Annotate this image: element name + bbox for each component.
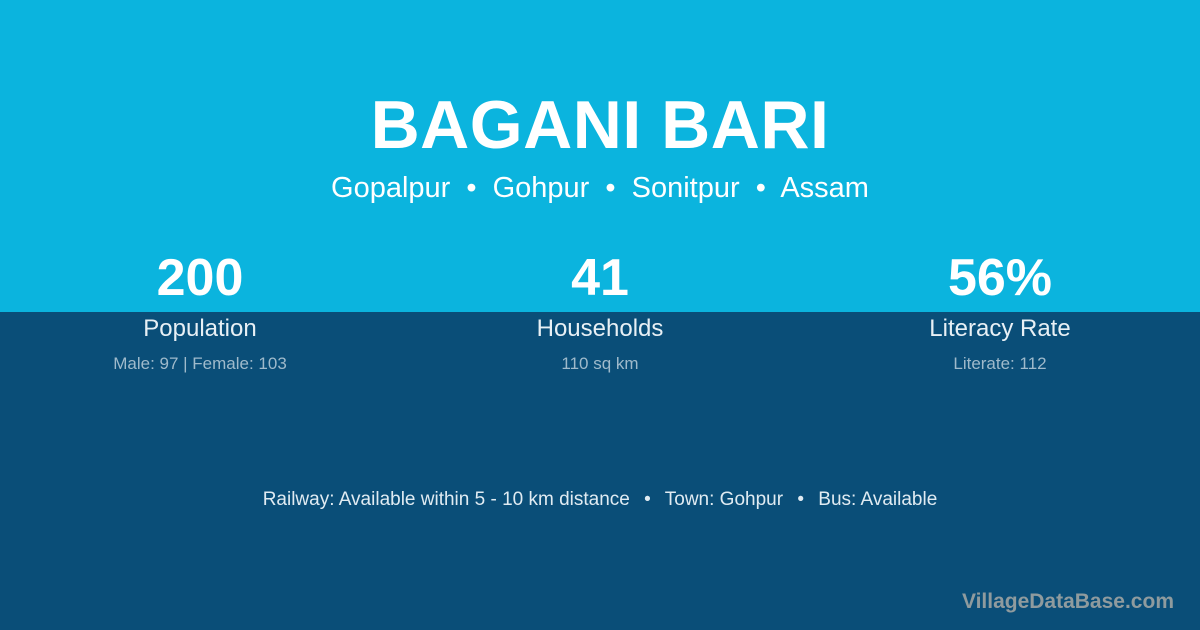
stats-row: 200 Population Male: 97 | Female: 103 41… [0, 244, 1200, 375]
breadcrumb-separator: • [597, 172, 623, 204]
stat-population: 200 Population Male: 97 | Female: 103 [0, 244, 400, 375]
stat-value: 200 [0, 244, 400, 312]
breadcrumb-village: Gopalpur [331, 172, 450, 204]
stat-detail: 110 sq km [400, 353, 800, 375]
stat-value: 56% [800, 244, 1200, 312]
headline-block: BAGANI BARI Gopalpur • Gohpur • Sonitpur… [0, 84, 1200, 206]
amenities-separator: • [788, 489, 813, 510]
breadcrumb-state: Assam [780, 172, 869, 204]
page-title: BAGANI BARI [0, 84, 1200, 166]
breadcrumb-separator: • [748, 172, 774, 204]
stat-label: Population [0, 314, 400, 344]
stat-detail: Male: 97 | Female: 103 [0, 353, 400, 375]
stat-households: 41 Households 110 sq km [400, 244, 800, 375]
breadcrumb-separator: • [458, 172, 484, 204]
amenity-railway: Railway: Available within 5 - 10 km dist… [263, 489, 630, 510]
stat-value: 41 [400, 244, 800, 312]
amenity-town: Town: Gohpur [665, 489, 783, 510]
village-info-card: BAGANI BARI Gopalpur • Gohpur • Sonitpur… [0, 0, 1200, 630]
stat-label: Households [400, 314, 800, 344]
site-brand: VillageDataBase.com [962, 588, 1174, 616]
breadcrumb-district: Sonitpur [632, 172, 740, 204]
amenities-separator: • [635, 489, 660, 510]
stat-label: Literacy Rate [800, 314, 1200, 344]
amenity-bus: Bus: Available [818, 489, 937, 510]
stat-literacy-rate: 56% Literacy Rate Literate: 112 [800, 244, 1200, 375]
amenities-row: Railway: Available within 5 - 10 km dist… [0, 486, 1200, 514]
breadcrumb: Gopalpur • Gohpur • Sonitpur • Assam [0, 170, 1200, 206]
breadcrumb-block: Gohpur [493, 172, 590, 204]
stat-detail: Literate: 112 [800, 353, 1200, 375]
